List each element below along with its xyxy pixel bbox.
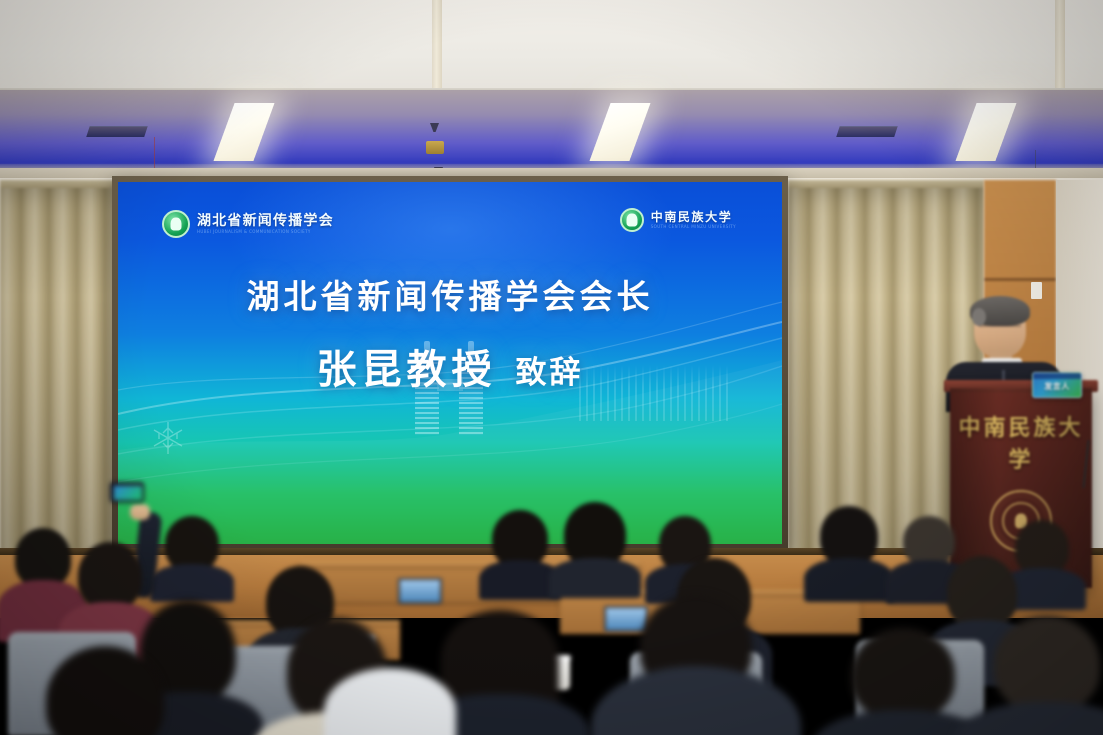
- audience-member-foreground: [596, 594, 796, 735]
- wall-switch[interactable]: [1031, 282, 1042, 299]
- head: [994, 616, 1100, 712]
- head: [851, 628, 955, 720]
- audience-member: [550, 502, 640, 594]
- audience-member: [150, 516, 234, 596]
- speech-action: 致辞: [515, 355, 583, 391]
- university-name-en: SOUTH CENTRAL MINZU UNIVERSITY: [651, 225, 736, 229]
- audience-area: [0, 470, 1103, 735]
- hand: [130, 504, 150, 520]
- torso: [804, 558, 894, 602]
- ceiling-air-vent: [836, 126, 898, 137]
- association-logo: 湖北省新闻传播学会 HUBEI JOURNALISM & COMMUNICATI…: [162, 210, 334, 238]
- audience-member: [806, 506, 892, 598]
- audience-member-foreground: [962, 616, 1103, 735]
- association-logo-text: 湖北省新闻传播学会 HUBEI JOURNALISM & COMMUNICATI…: [197, 214, 334, 234]
- university-name-cn: 中南民族大学: [651, 211, 736, 223]
- hood: [324, 668, 456, 735]
- laptop[interactable]: [398, 578, 442, 604]
- ceiling-soffit-led: [0, 90, 1103, 176]
- ceiling-beam: [432, 0, 442, 92]
- head: [820, 506, 878, 566]
- speaker-name: 张昆教授: [317, 346, 497, 393]
- association-seal-icon: [162, 210, 190, 238]
- upper-wall: [0, 0, 1103, 92]
- slide-title-line-2: 张昆教授 致辞: [118, 337, 782, 395]
- audience-member: [480, 510, 560, 594]
- nameplate-text: 发言人: [1044, 381, 1070, 392]
- projector-mount: [426, 141, 444, 154]
- speaker-glasses: [979, 325, 1021, 333]
- audience-member-foreground: [20, 646, 190, 735]
- smartphone-recording[interactable]: [110, 482, 144, 502]
- speaker-hair: [970, 296, 1030, 326]
- torso: [549, 558, 641, 598]
- association-name-cn: 湖北省新闻传播学会: [197, 214, 334, 228]
- association-name-en: HUBEI JOURNALISM & COMMUNICATION SOCIETY: [197, 230, 334, 234]
- panel-seam: [984, 278, 1056, 281]
- hood: [591, 666, 801, 735]
- head: [46, 646, 164, 735]
- torso: [150, 564, 234, 602]
- audience-member-foreground: [300, 668, 480, 735]
- snowflake-icon: [148, 418, 188, 458]
- speaker-nameplate: 发言人: [1032, 372, 1082, 398]
- auditorium-scene: 湖北省新闻传播学会 HUBEI JOURNALISM & COMMUNICATI…: [0, 0, 1103, 735]
- ceiling-beam: [1055, 0, 1065, 92]
- torso: [954, 702, 1103, 735]
- university-seal-icon: [620, 208, 644, 232]
- phone-screen: [114, 486, 142, 500]
- ceiling-air-vent: [86, 126, 148, 137]
- university-logo-text: 中南民族大学 SOUTH CENTRAL MINZU UNIVERSITY: [651, 211, 736, 229]
- slide-title-line-1: 湖北省新闻传播学会会长: [118, 270, 782, 318]
- nameplate-header-bar: [1033, 373, 1081, 379]
- university-logo: 中南民族大学 SOUTH CENTRAL MINZU UNIVERSITY: [620, 208, 736, 232]
